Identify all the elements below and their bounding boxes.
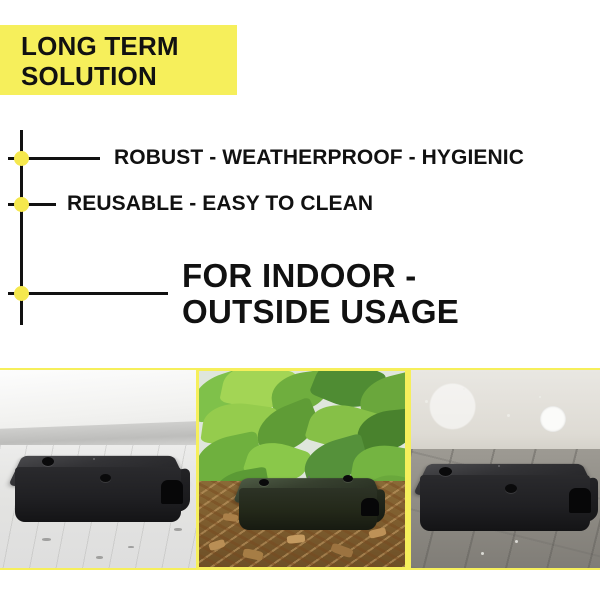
wall-speck bbox=[539, 396, 541, 398]
timeline-dot-1 bbox=[14, 151, 29, 166]
station-lid-hole bbox=[343, 475, 353, 482]
ground-speck bbox=[481, 552, 484, 555]
timeline-spine-segment-3 bbox=[20, 203, 23, 292]
feature-label-2: REUSABLE - EASY TO CLEAN bbox=[67, 192, 373, 216]
ground-speck bbox=[515, 540, 518, 543]
scene-outdoor bbox=[411, 370, 600, 568]
timeline-connector-3 bbox=[8, 292, 168, 295]
bait-station-product bbox=[413, 432, 597, 540]
product-photo-indoor-floorboards[interactable] bbox=[0, 368, 196, 570]
scene-garden bbox=[199, 371, 405, 567]
station-lid-hole bbox=[505, 484, 517, 493]
station-body bbox=[420, 475, 589, 531]
feature-label-1: ROBUST - WEATHERPROOF - HYGIENIC bbox=[114, 146, 524, 170]
wall-speck bbox=[425, 400, 428, 403]
product-photo-strip bbox=[0, 368, 600, 570]
floor-fleck bbox=[128, 546, 134, 548]
timeline-dot-2 bbox=[14, 197, 29, 212]
wall-hole bbox=[540, 406, 566, 432]
station-entry-hole bbox=[361, 498, 379, 517]
station-body bbox=[239, 488, 377, 531]
feature-timeline: ROBUST - WEATHERPROOF - HYGIENIC REUSABL… bbox=[0, 0, 600, 370]
product-photo-outdoor-paving[interactable] bbox=[408, 368, 600, 570]
station-entry-hole bbox=[161, 480, 183, 504]
station-lid-hole bbox=[42, 457, 54, 466]
station-lid-mark bbox=[93, 458, 95, 460]
bait-station-product bbox=[233, 455, 383, 537]
station-body bbox=[15, 467, 181, 522]
wall-speck bbox=[507, 414, 510, 417]
bait-station-product bbox=[8, 425, 188, 530]
station-lid-hole bbox=[439, 467, 452, 476]
timeline-dot-3 bbox=[14, 286, 29, 301]
floor-fleck bbox=[42, 538, 51, 541]
scene-indoor bbox=[0, 370, 196, 568]
wall-speck bbox=[463, 388, 465, 390]
product-photo-garden-mulch[interactable] bbox=[196, 368, 408, 570]
station-entry-hole bbox=[569, 488, 591, 513]
feature-label-3-line-1: FOR INDOOR - bbox=[182, 258, 417, 294]
feature-label-3-line-2: OUTSIDE USAGE bbox=[182, 294, 459, 330]
station-lid-hole bbox=[259, 479, 269, 486]
floor-fleck bbox=[96, 556, 103, 559]
